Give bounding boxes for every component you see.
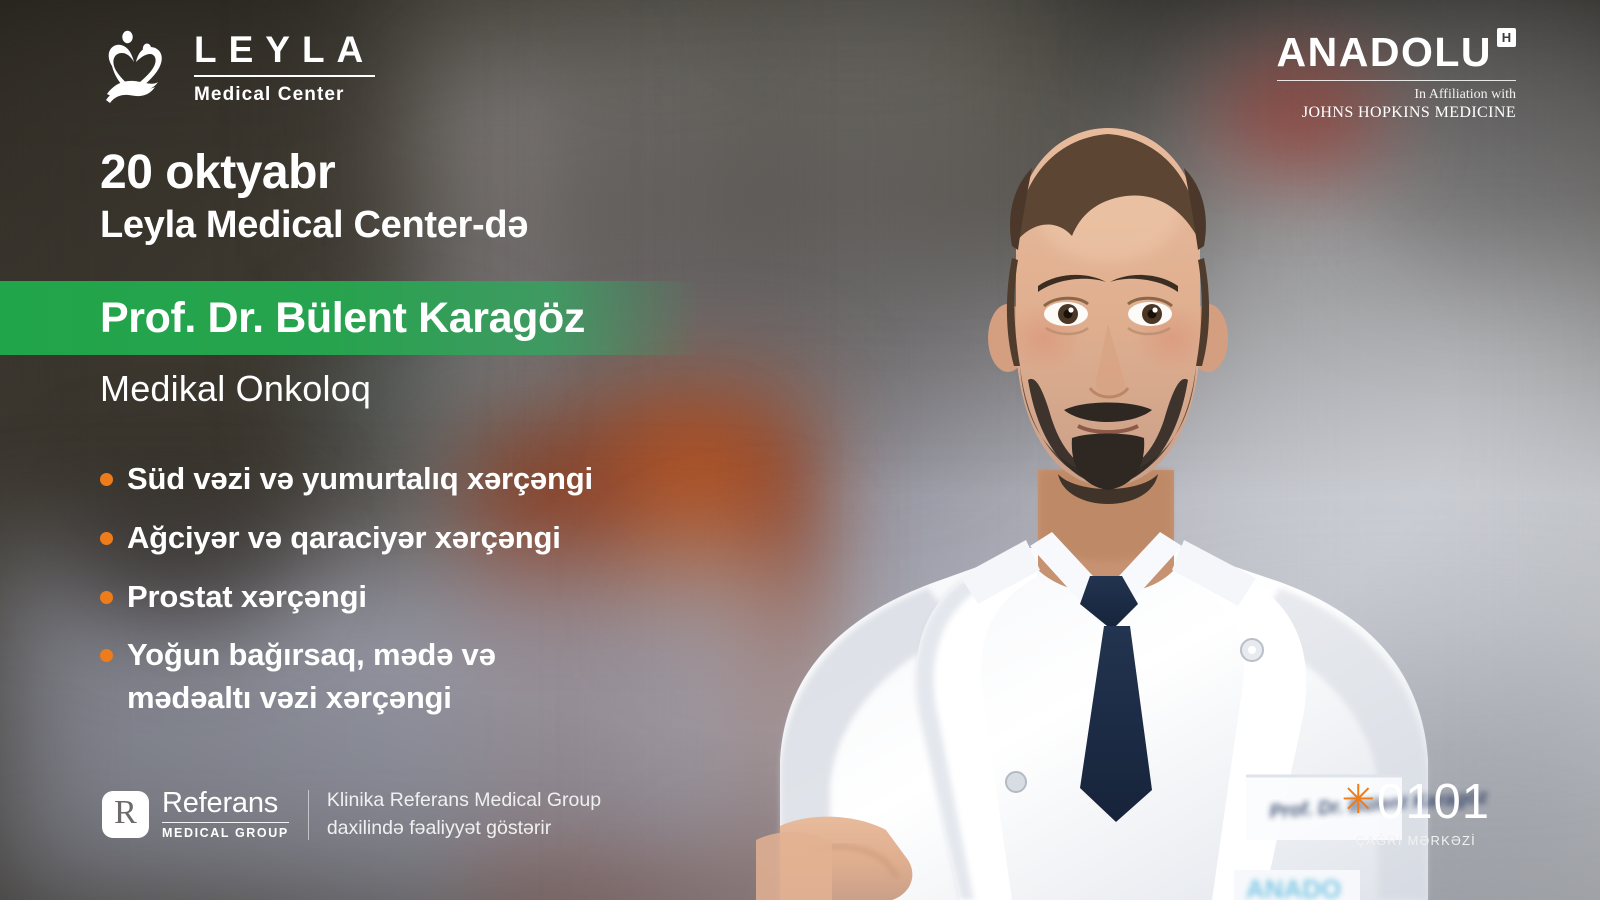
event-date: 20 oktyabr — [100, 148, 335, 198]
bullet-dot-icon — [100, 473, 113, 486]
list-item: Yoğun bağırsaq, mədə və mədəaltı vəzi xə… — [100, 634, 720, 720]
bullet-dot-icon — [100, 532, 113, 545]
svg-text:ANADO: ANADO — [1246, 874, 1341, 900]
anadolu-divider — [1277, 80, 1516, 81]
specialty-label: Süd vəzi və yumurtalıq xərçəngi — [127, 458, 593, 501]
bullet-dot-icon — [100, 649, 113, 662]
anadolu-logo: ANADOLU H In Affiliation with JOHNS HOPK… — [1277, 32, 1516, 122]
bullet-dot-icon — [100, 591, 113, 604]
leyla-tagline: Medical Center — [194, 84, 375, 106]
leyla-medical-center-logo: LEYLA Medical Center — [100, 28, 375, 108]
poster-root: Prof. Dr. Bülent Karagöz ANADO — [0, 0, 1600, 900]
leyla-wordmark: LEYLA — [194, 31, 375, 75]
call-center-block[interactable]: ✳ 0101 ÇAĞRI MƏRKƏZİ — [1341, 778, 1490, 848]
doctor-name: Prof. Dr. Bülent Karagöz — [100, 294, 585, 343]
leyla-divider — [194, 75, 375, 77]
referans-medical-group-logo: R Referans MEDICAL GROUP Klinika Referan… — [102, 787, 601, 842]
anadolu-h-badge: H — [1497, 28, 1516, 47]
anadolu-affiliation-prefix: In Affiliation with — [1277, 87, 1516, 103]
anadolu-wordmark: ANADOLU — [1277, 32, 1492, 73]
specialty-label: Ağciyər və qaraciyər xərçəngi — [127, 517, 561, 560]
anadolu-affiliation-partner: JOHNS HOPKINS MEDICINE — [1277, 103, 1516, 122]
referans-wordmark: Referans — [162, 789, 289, 818]
asterisk-icon: ✳ — [1341, 782, 1375, 818]
specialty-label: Yoğun bağırsaq, mədə və mədəaltı vəzi xə… — [127, 634, 496, 720]
call-center-label: ÇAĞRI MƏRKƏZİ — [1341, 833, 1490, 848]
doctor-role: Medikal Onkoloq — [100, 368, 371, 410]
specialty-label: Prostat xərçəngi — [127, 576, 367, 619]
doctor-name-banner: Prof. Dr. Bülent Karagöz — [0, 281, 700, 355]
list-item: Süd vəzi və yumurtalıq xərçəngi — [100, 458, 720, 501]
heart-hand-icon — [100, 28, 176, 108]
call-center-number[interactable]: 0101 — [1377, 778, 1490, 827]
list-item: Ağciyər və qaraciyər xərçəngi — [100, 517, 720, 560]
event-venue: Leyla Medical Center-də — [100, 206, 528, 246]
footer-vertical-divider — [308, 790, 309, 840]
referans-divider — [162, 822, 289, 823]
specialty-list: Süd vəzi və yumurtalıq xərçəngi Ağciyər … — [100, 458, 720, 736]
referans-subtitle: MEDICAL GROUP — [162, 826, 289, 840]
list-item: Prostat xərçəngi — [100, 576, 720, 619]
referans-tagline: Klinika Referans Medical Group daxilində… — [327, 787, 601, 842]
referans-mark-icon: R — [102, 791, 149, 838]
